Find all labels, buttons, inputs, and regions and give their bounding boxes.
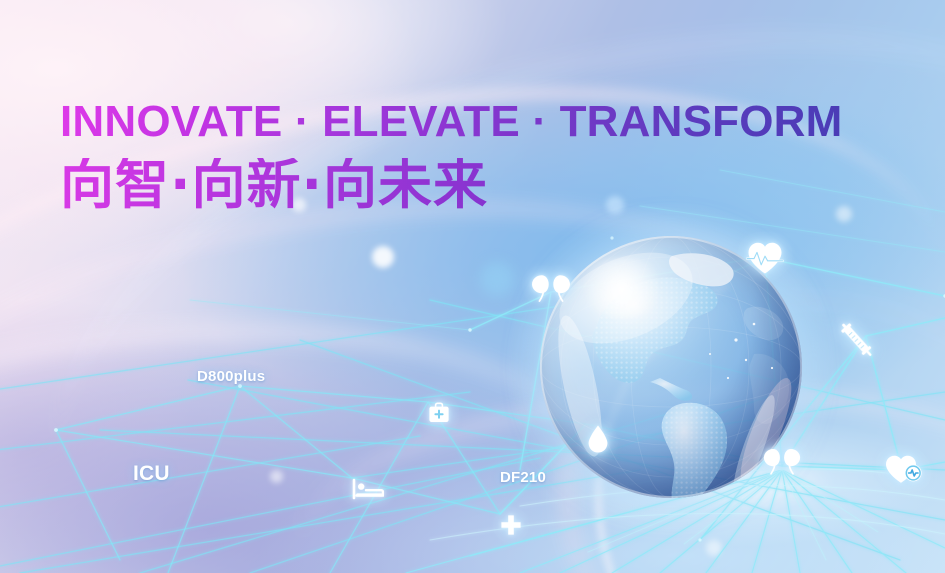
kidneys-icon	[528, 272, 574, 312]
medical-bag-icon	[428, 402, 450, 424]
kidneys-icon	[760, 446, 804, 484]
hero-banner: D800plus ICU DF210 INNOVATE · ELEVATE · …	[0, 0, 945, 573]
grid-label-icu: ICU	[133, 462, 170, 486]
page-title-english: INNOVATE · ELEVATE · TRANSFORM	[60, 100, 843, 144]
heart-ecg-icon	[745, 240, 785, 276]
page-title-chinese: 向智·向新·向未来	[60, 158, 843, 212]
network-lines	[0, 0, 945, 573]
water-drop-icon	[586, 424, 610, 454]
heart-pulse-icon	[884, 451, 924, 485]
headline-block: INNOVATE · ELEVATE · TRANSFORM 向智·向新·向未来	[60, 100, 843, 212]
grid-label-d800plus: D800plus	[197, 368, 265, 385]
grid-label-df210: DF210	[500, 469, 546, 486]
hospital-bed-icon	[352, 478, 384, 500]
medical-cross-icon	[500, 514, 522, 536]
